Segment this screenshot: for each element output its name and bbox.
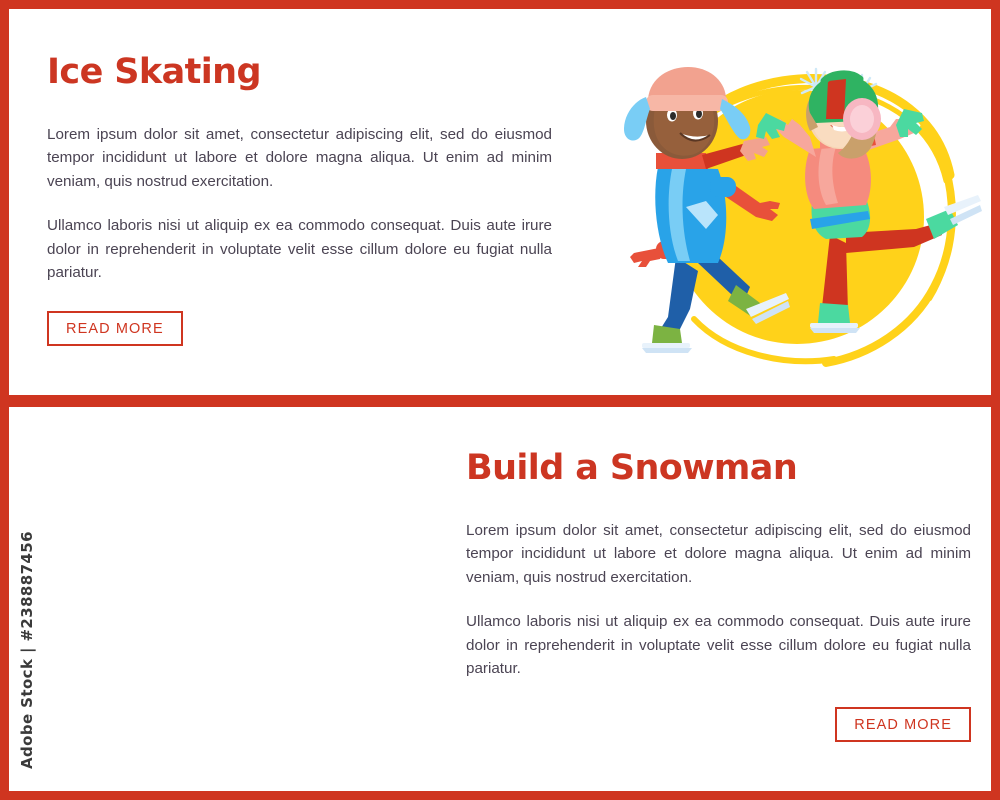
panel-divider [9, 395, 991, 407]
read-more-button-ice-skating[interactable]: READ MORE [47, 311, 183, 347]
page-title-build-a-snowman: Build a Snowman [466, 450, 971, 487]
panel-build-a-snowman: Build a Snowman Lorem ipsum dolor sit am… [9, 407, 991, 791]
page-title-ice-skating: Ice Skating [47, 54, 552, 91]
build-a-snowman-text-block: Build a Snowman Lorem ipsum dolor sit am… [466, 450, 971, 742]
body-paragraph-2: Ullamco laboris nisi ut aliquip ex ea co… [47, 214, 552, 285]
read-more-button-build-a-snowman[interactable]: READ MORE [835, 707, 971, 743]
ice-skating-text-block: Ice Skating Lorem ipsum dolor sit amet, … [47, 54, 552, 346]
body-paragraph-2: Ullamco laboris nisi ut aliquip ex ea co… [466, 610, 971, 681]
ice-skating-illustration [594, 57, 989, 387]
body-paragraph-1: Lorem ipsum dolor sit amet, consectetur … [466, 519, 971, 590]
panel-ice-skating: Ice Skating Lorem ipsum dolor sit amet, … [9, 9, 991, 395]
body-paragraph-1: Lorem ipsum dolor sit amet, consectetur … [47, 123, 552, 194]
